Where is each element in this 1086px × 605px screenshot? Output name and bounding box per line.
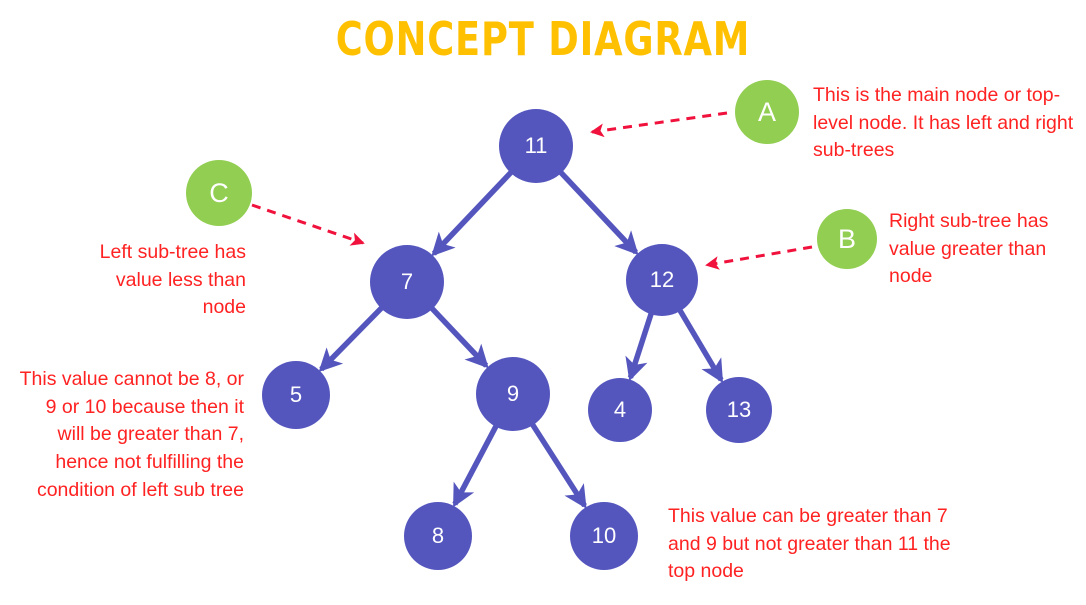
tree-node-label: 5 <box>290 384 302 406</box>
marker-node-c[interactable]: C <box>186 160 252 226</box>
tree-node-7[interactable]: 7 <box>370 245 444 319</box>
tree-edge-12-to-4 <box>630 313 651 377</box>
marker-c-label: C <box>209 180 229 207</box>
tree-node-label: 10 <box>592 525 616 547</box>
tree-node-label: 7 <box>401 271 413 293</box>
annotation-left-subtree: Left sub-tree has value less than node <box>82 239 246 322</box>
tree-node-8[interactable]: 8 <box>404 502 472 570</box>
tree-node-9[interactable]: 9 <box>476 357 550 431</box>
annotation-main-node: This is the main node or top-level node.… <box>813 82 1079 165</box>
marker-a-label: A <box>758 99 776 126</box>
tree-edge-9-to-10 <box>532 424 584 505</box>
arrow-b-to-node12 <box>707 247 812 265</box>
tree-node-label: 4 <box>614 399 626 421</box>
concept-diagram-canvas: CONCEPT DIAGRAM 1171259413810 A B C This… <box>0 0 1086 605</box>
tree-edge-11-to-7 <box>434 172 511 254</box>
tree-node-label: 13 <box>727 399 751 421</box>
tree-node-label: 11 <box>525 135 548 157</box>
tree-node-11[interactable]: 11 <box>499 109 573 183</box>
annotation-right-subtree: Right sub-tree has value greater than no… <box>889 208 1086 291</box>
tree-node-label: 9 <box>507 383 519 405</box>
tree-node-label: 8 <box>432 525 444 547</box>
tree-edge-7-to-9 <box>432 308 486 366</box>
arrow-a-to-node11 <box>592 113 727 132</box>
annotation-right-value-constraint: This value can be greater than 7 and 9 b… <box>668 503 968 586</box>
annotation-left-value-constraint: This value cannot be 8, or 9 or 10 becau… <box>17 366 244 504</box>
tree-node-5[interactable]: 5 <box>262 361 330 429</box>
marker-node-a[interactable]: A <box>735 80 799 144</box>
tree-node-10[interactable]: 10 <box>570 502 638 570</box>
arrow-c-to-node7 <box>252 205 363 243</box>
marker-b-label: B <box>838 226 856 253</box>
tree-node-13[interactable]: 13 <box>706 377 772 443</box>
tree-node-label: 12 <box>650 269 674 291</box>
tree-edge-9-to-8 <box>455 426 496 504</box>
tree-node-4[interactable]: 4 <box>588 378 652 442</box>
tree-edge-12-to-13 <box>680 310 721 380</box>
tree-node-12[interactable]: 12 <box>626 244 698 316</box>
marker-node-b[interactable]: B <box>817 209 877 269</box>
tree-edges <box>321 172 721 506</box>
tree-edge-7-to-5 <box>321 308 382 370</box>
tree-edge-11-to-12 <box>561 172 636 252</box>
